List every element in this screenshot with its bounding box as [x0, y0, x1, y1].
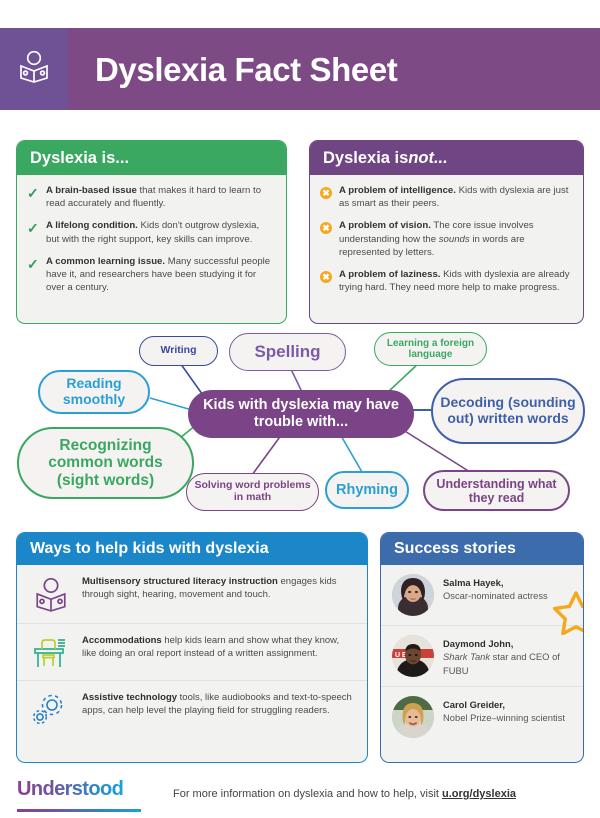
mindmap-node-writing[interactable]: Writing — [139, 336, 218, 366]
fact-box-isnot-title: Dyslexia is not... — [310, 141, 583, 175]
fact-item-text: A lifelong condition. Kids don't outgrow… — [46, 219, 275, 245]
avatar: U E — [392, 635, 434, 677]
way-row: Assistive technology tools, like audiobo… — [17, 680, 367, 737]
way-row: Multisensory structured literacy instruc… — [17, 565, 367, 623]
fact-box-dyslexia-is-not: Dyslexia is not... ✖ A problem of intell… — [309, 140, 584, 324]
page-header: Dyslexia Fact Sheet — [0, 28, 600, 110]
fact-item-lead: A problem of laziness. — [339, 269, 440, 280]
way-row-text: Assistive technology tools, like audiobo… — [82, 691, 355, 718]
page-footer: Understood For more information on dysle… — [0, 770, 600, 818]
mindmap-central-label: Kids with dyslexia may have trouble with… — [202, 397, 400, 432]
x-circle-icon: ✖ — [320, 268, 333, 294]
fact-box-isnot-title-text: Dyslexia is — [323, 149, 408, 168]
brand-underline — [17, 809, 141, 812]
stories-panel-title: Success stories — [381, 533, 583, 565]
brand-wordmark: Understood — [17, 777, 145, 807]
check-icon: ✓ — [27, 184, 40, 210]
fact-item: ✖ A problem of intelligence. Kids with d… — [320, 184, 572, 210]
brand-logo-box — [0, 28, 68, 110]
way-row-lead: Accommodations — [82, 635, 162, 646]
infographic-page: Dyslexia Fact Sheet Dyslexia is... ✓ A b… — [0, 0, 600, 818]
mindmap-node-label: Learning a foreign language — [381, 338, 480, 360]
fact-box-dyslexia-is: Dyslexia is... ✓ A brain-based issue tha… — [16, 140, 287, 324]
footer-note: For more information on dyslexia and how… — [173, 788, 516, 800]
page-title: Dyslexia Fact Sheet — [68, 53, 397, 86]
mindmap-node-comprehension[interactable]: Understanding what they read — [423, 470, 570, 511]
way-row: Accommodations help kids learn and show … — [17, 623, 367, 680]
fact-item-text: A common learning issue. Many successful… — [46, 255, 275, 295]
mindmap-node-rhyming[interactable]: Rhyming — [325, 471, 409, 509]
mindmap-central-node: Kids with dyslexia may have trouble with… — [188, 390, 414, 438]
mindmap-node-label: Rhyming — [336, 482, 398, 498]
understood-wordmark-svg: Understood — [17, 777, 145, 801]
story-row-text: Salma Hayek, Oscar-nominated actress — [443, 574, 548, 603]
fact-item-lead: A lifelong condition. — [46, 220, 138, 231]
story-row-text: Carol Greider, Nobel Prize–winning scien… — [443, 696, 565, 725]
x-circle-icon: ✖ — [320, 184, 333, 210]
footer-link[interactable]: u.org/dyslexia — [442, 788, 516, 800]
fact-item: ✓ A lifelong condition. Kids don't outgr… — [27, 219, 275, 245]
story-person-desc: Oscar-nominated actress — [443, 590, 548, 601]
way-row-text: Multisensory structured literacy instruc… — [82, 575, 355, 602]
success-stories-panel: Success stories Salma Hayek, — [380, 532, 584, 763]
story-row-text: Daymond John, Shark Tank star and CEO of… — [443, 635, 573, 677]
story-person-desc-emphasis: Shark Tank — [443, 651, 490, 662]
fact-item-lead: A common learning issue. — [46, 256, 165, 267]
mindmap-node-label: Understanding what they read — [431, 477, 562, 505]
fact-item-text: A brain-based issue that makes it hard t… — [46, 184, 275, 210]
mindmap-node-reading-smoothly[interactable]: Reading smoothly — [38, 370, 150, 414]
mindmap-diagram: Kids with dyslexia may have trouble with… — [0, 330, 600, 525]
fact-item-lead: A brain-based issue — [46, 185, 137, 196]
fact-item-text: A problem of intelligence. Kids with dys… — [339, 184, 572, 210]
mindmap-node-label: Recognizing common words (sight words) — [25, 437, 186, 489]
x-circle-icon: ✖ — [320, 219, 333, 259]
star-icon — [553, 589, 584, 640]
fact-item-lead: A problem of intelligence. — [339, 185, 456, 196]
avatar — [392, 574, 434, 616]
check-icon: ✓ — [27, 219, 40, 245]
check-icon: ✓ — [27, 255, 40, 295]
story-person-name: Carol Greider, — [443, 698, 565, 711]
fact-item: ✓ A common learning issue. Many successf… — [27, 255, 275, 295]
mindmap-node-decoding[interactable]: Decoding (sounding out) written words — [431, 378, 585, 444]
fact-item: ✓ A brain-based issue that makes it hard… — [27, 184, 275, 210]
avatar — [392, 696, 434, 738]
reading-person-icon — [30, 575, 72, 613]
mindmap-node-label: Spelling — [254, 342, 320, 361]
mindmap-node-foreign-language[interactable]: Learning a foreign language — [374, 332, 487, 366]
story-row: Carol Greider, Nobel Prize–winning scien… — [381, 686, 583, 747]
footer-note-text: For more information on dyslexia and how… — [173, 788, 442, 800]
brand-understood[interactable]: Understood — [17, 777, 145, 812]
fact-box-isnot-title-emphasis: not... — [408, 149, 447, 168]
mindmap-node-label: Reading smoothly — [46, 376, 142, 407]
mindmap-node-label: Solving word problems in math — [193, 480, 312, 504]
ways-panel-title: Ways to help kids with dyslexia — [17, 533, 367, 565]
mindmap-node-label: Decoding (sounding out) written words — [439, 395, 577, 426]
ways-to-help-panel: Ways to help kids with dyslexia Multisen… — [16, 532, 368, 763]
way-row-text: Accommodations help kids learn and show … — [82, 634, 355, 661]
fact-item-emphasis: sounds — [439, 234, 470, 245]
fact-box-is-body: ✓ A brain-based issue that makes it hard… — [17, 175, 286, 310]
mindmap-node-spelling[interactable]: Spelling — [229, 333, 346, 371]
fact-item-text: A problem of laziness. Kids with dyslexi… — [339, 268, 572, 294]
fact-box-is-title-text: Dyslexia is... — [30, 149, 129, 168]
way-row-lead: Multisensory structured literacy instruc… — [82, 576, 278, 587]
reading-person-icon — [19, 50, 49, 89]
story-person-name: Salma Hayek, — [443, 576, 548, 589]
mindmap-node-math-word-problems[interactable]: Solving word problems in math — [186, 473, 319, 511]
school-desk-icon — [30, 634, 72, 670]
mindmap-node-sight-words[interactable]: Recognizing common words (sight words) — [17, 427, 194, 499]
svg-text:Understood: Understood — [17, 778, 123, 800]
story-person-desc: Nobel Prize–winning scientist — [443, 712, 565, 723]
way-row-lead: Assistive technology — [82, 692, 177, 703]
fact-item: ✖ A problem of vision. The core issue in… — [320, 219, 572, 259]
fact-item-text: A problem of vision. The core issue invo… — [339, 219, 572, 259]
fact-item-lead: A problem of vision. — [339, 220, 431, 231]
fact-box-isnot-body: ✖ A problem of intelligence. Kids with d… — [310, 175, 583, 310]
fact-box-is-title: Dyslexia is... — [17, 141, 286, 175]
gears-icon — [30, 691, 72, 727]
mindmap-node-label: Writing — [161, 345, 197, 357]
fact-item: ✖ A problem of laziness. Kids with dysle… — [320, 268, 572, 294]
